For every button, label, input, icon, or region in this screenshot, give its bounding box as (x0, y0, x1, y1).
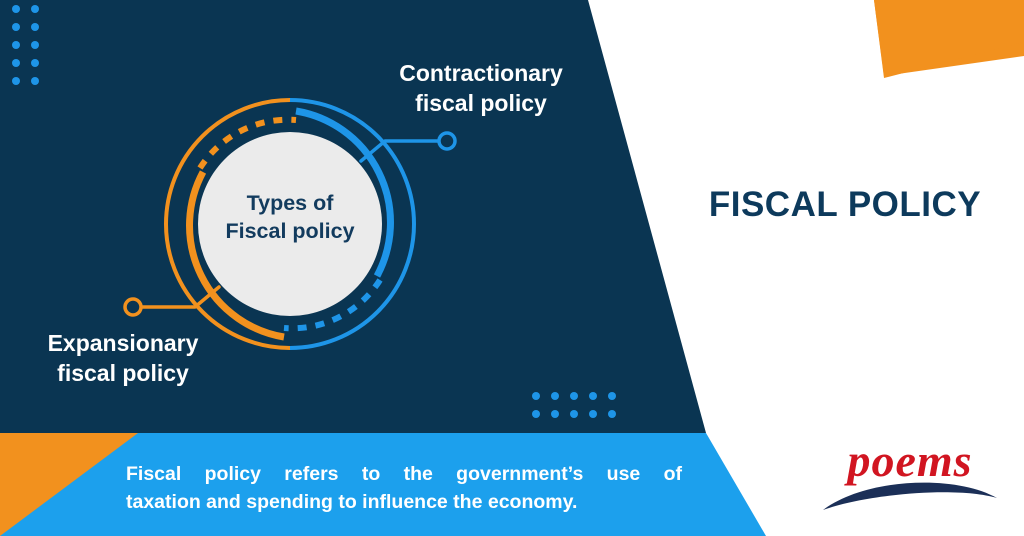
caption: Fiscal policy refers to the government’s… (126, 461, 682, 516)
infographic-canvas: Types of Fiscal policy Contractionary fi… (0, 0, 1024, 536)
brand-logo: poems (815, 438, 1005, 516)
node-label-expansionary: Expansionary fiscal policy (8, 328, 238, 389)
node-label-contractionary: Contractionary fiscal policy (356, 58, 606, 119)
logo-swoosh-icon (815, 438, 1005, 516)
page-title: FISCAL POLICY (680, 186, 1010, 225)
caption-line-1: Fiscal policy refers to the government’s… (126, 461, 682, 489)
center-circle-label: Types of Fiscal policy (196, 190, 384, 246)
caption-line-2: taxation and spending to influence the e… (126, 489, 682, 517)
